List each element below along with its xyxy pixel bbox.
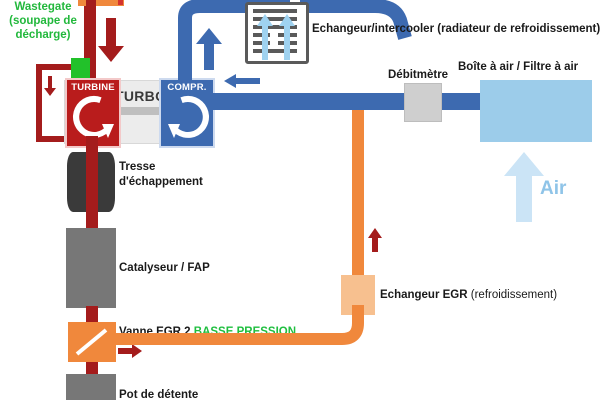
intercooler-airflow-arrows-icon (252, 14, 302, 64)
egr-up-arrow-icon (368, 228, 382, 252)
cut-off-marker (118, 0, 123, 5)
air-label: Air (540, 178, 566, 200)
catalyst-label: Catalyseur / FAP (119, 261, 210, 276)
wastegate-label-line3: décharge) (16, 29, 71, 41)
diagram-canvas: Wastegate (soupape de décharge) TURBO TU… (0, 0, 600, 400)
intake-up-arrow-icon (196, 28, 222, 70)
egr-cooler-label-main: Echangeur EGR (380, 289, 468, 301)
pot-de-detente-label: Pot de détente (119, 388, 198, 403)
wastegate-down-arrow-icon (44, 76, 56, 96)
egr-cooler-label: Echangeur EGR (refroidissement) (380, 288, 557, 303)
exhaust-down-arrow-icon (98, 18, 124, 62)
wastegate-bypass-vertical (36, 64, 42, 142)
intercooler-bar (253, 9, 297, 13)
intake-left-arrow-icon (224, 74, 260, 88)
debitmetre-label: Débitmètre (388, 68, 448, 83)
wastegate-label-line2: (soupape de (9, 15, 77, 27)
exhaust-pipe-through-braid (86, 152, 98, 212)
compressor-label: COMPR. (161, 82, 213, 93)
debitmetre-box (404, 83, 442, 122)
catalyst-fap-box (66, 228, 116, 308)
egr-pipe-cooler-to-valve (100, 305, 370, 360)
egr-pipe-vertical-right (352, 110, 364, 278)
tresse-label-line2: d'échappement (119, 176, 203, 188)
airbox-filter-box (480, 80, 592, 142)
tresse-label-line1: Tresse (119, 161, 155, 173)
pot-de-detente-box (66, 374, 116, 400)
tresse-label: Tresse d'échappement (119, 160, 203, 190)
intercooler-label: Echangeur/intercooler (radiateur de refr… (312, 22, 600, 37)
wastegate-label-line1: Wastegate (14, 1, 71, 13)
compressor-box[interactable]: COMPR. (159, 78, 215, 148)
compressor-rotation-arrow-icon (168, 96, 208, 140)
airbox-label: Boîte à air / Filtre à air (458, 60, 578, 75)
wastegate-label: Wastegate (soupape de décharge) (0, 0, 86, 42)
turbine-rotation-arrow-icon (74, 96, 114, 140)
turbine-label: TURBINE (67, 82, 119, 93)
air-intake-arrow-icon (504, 152, 544, 222)
egr-pipe-top-return (78, 0, 86, 6)
egr-cooler-label-note: (refroidissement) (468, 289, 557, 301)
intake-pipe-horizontal (211, 93, 489, 110)
